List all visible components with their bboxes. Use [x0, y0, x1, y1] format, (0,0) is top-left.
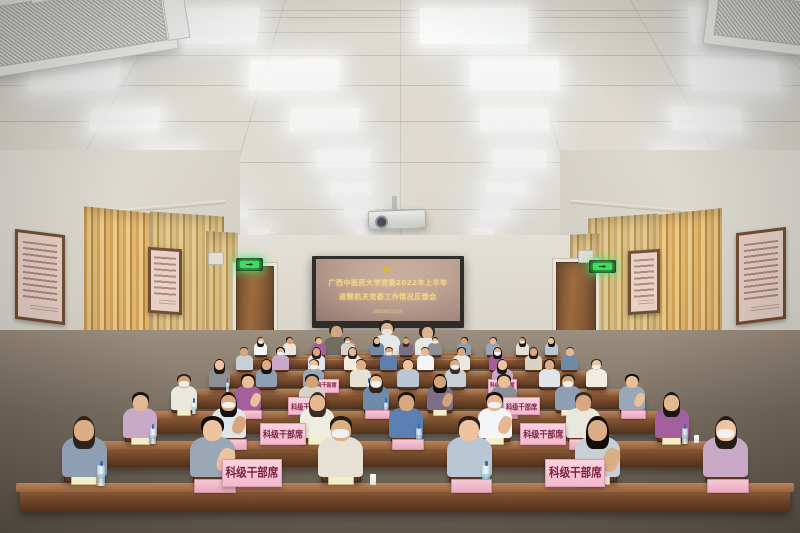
paper-cup — [694, 435, 699, 443]
wall-poster-right-1 — [736, 227, 786, 325]
poster-signature — [751, 304, 778, 313]
exit-sign-right — [589, 260, 616, 273]
seat-name-card-label: 科级干部席 — [263, 428, 303, 441]
ceiling-light — [420, 8, 528, 44]
face-mask — [179, 381, 189, 386]
head — [403, 360, 412, 370]
ceiling-light — [88, 107, 160, 131]
ceiling-light — [249, 60, 340, 90]
audience-person — [399, 337, 413, 358]
audience-person — [561, 347, 578, 373]
head — [459, 420, 479, 441]
face-mask — [451, 365, 459, 369]
ceiling-light — [688, 59, 780, 90]
document-folder — [392, 439, 424, 450]
poster-text-lines — [154, 256, 175, 298]
seat-name-card-label: 科级干部席 — [226, 464, 279, 481]
wall-poster-left-2 — [148, 247, 182, 315]
head — [399, 395, 414, 411]
ceiling-light — [492, 150, 547, 168]
face-mask — [277, 352, 284, 355]
head — [498, 376, 510, 388]
face-mask — [592, 365, 600, 369]
head — [664, 395, 679, 411]
ceiling-light — [480, 208, 511, 218]
paper-cup — [370, 474, 377, 485]
face-mask — [371, 381, 381, 386]
projector-lens — [375, 215, 388, 228]
head — [498, 360, 507, 370]
head — [356, 360, 365, 370]
document-folder — [707, 479, 749, 493]
audience-person — [397, 359, 418, 391]
audience-person — [236, 347, 253, 373]
head — [434, 376, 446, 388]
torso — [318, 437, 363, 477]
head — [133, 395, 148, 411]
audience-person — [427, 374, 454, 415]
face-mask — [717, 429, 734, 438]
document-folder — [365, 410, 390, 419]
face-mask — [386, 352, 393, 355]
seat-name-card-label: 科级干部席 — [523, 428, 563, 441]
torso — [586, 369, 607, 388]
ceiling-light — [330, 182, 371, 196]
document-folder — [451, 479, 493, 493]
slide-title-line-2: 巡察机关党委工作情况反馈会 — [316, 292, 460, 302]
head — [576, 395, 591, 411]
seat-name-card-label: 科级干部席 — [549, 464, 602, 481]
party-emblem-icon — [382, 264, 393, 275]
wall-speaker — [208, 252, 224, 265]
ceiling-light — [480, 108, 550, 131]
face-mask — [432, 341, 437, 344]
exit-sign-glow — [593, 263, 613, 269]
water-bottle — [150, 428, 156, 444]
ceiling-light — [289, 108, 359, 131]
face-mask — [332, 429, 349, 438]
face-mask — [310, 365, 318, 369]
audience-person — [545, 337, 559, 358]
head — [306, 376, 318, 388]
ceiling-light — [486, 182, 528, 196]
seat-name-card: 科级干部席 — [545, 459, 605, 487]
head — [458, 348, 466, 356]
audience-person — [586, 359, 607, 391]
audience-person — [619, 374, 646, 415]
head — [310, 395, 325, 411]
face-mask — [494, 352, 501, 355]
projection-screen: 广西中医药大学党委2022年上半年 巡察机关党委工作情况反馈会 2022年6月2… — [316, 259, 460, 321]
head — [287, 338, 293, 344]
ac-grille — [714, 0, 800, 49]
wall-poster-right-2 — [628, 249, 660, 315]
ceiling-light — [671, 108, 743, 132]
desk-surface — [16, 483, 794, 492]
audience-person — [703, 416, 748, 485]
audience-person — [318, 416, 363, 485]
water-bottle — [682, 428, 688, 444]
wall-poster-left-1 — [15, 229, 65, 325]
document-folder — [621, 410, 646, 419]
poster-signature — [638, 300, 654, 307]
exit-sign-glow — [240, 261, 260, 267]
face-mask — [563, 381, 573, 386]
water-bottle — [226, 382, 230, 392]
head — [203, 420, 223, 441]
head — [316, 338, 322, 344]
meeting-room-photo: 广西中医药大学党委2022年上半年 巡察机关党委工作情况反馈会 2022年6月2… — [0, 0, 800, 533]
water-bottle — [97, 465, 105, 486]
face-mask — [488, 402, 501, 409]
torso — [236, 355, 253, 370]
head — [403, 338, 409, 344]
audience-person — [417, 347, 434, 373]
head — [421, 348, 429, 356]
head — [566, 348, 574, 356]
poster-signature — [159, 300, 176, 307]
head — [374, 338, 380, 344]
head — [545, 360, 554, 370]
poster-signature — [30, 305, 57, 314]
torso — [380, 355, 397, 370]
audience-person — [380, 347, 397, 373]
ceiling-light — [316, 150, 371, 168]
slide-title-line-1: 广西中医药大学党委2022年上半年 — [316, 278, 460, 288]
torso — [561, 355, 578, 370]
head — [240, 348, 248, 356]
ceiling-light — [470, 60, 559, 90]
head — [74, 420, 94, 441]
head — [242, 376, 254, 388]
torso — [417, 355, 434, 370]
head — [588, 420, 608, 441]
water-bottle — [192, 402, 197, 414]
seat-name-card: 科级干部席 — [260, 423, 306, 445]
torso — [397, 369, 418, 388]
audience-person — [254, 337, 268, 358]
poster-text-lines — [23, 241, 56, 302]
seat-name-card: 科级干部席 — [222, 459, 282, 487]
seat-name-card: 科级干部席 — [520, 423, 566, 445]
head — [626, 376, 638, 388]
poster-text-lines — [634, 258, 654, 299]
poster-text-lines — [744, 240, 777, 303]
slide-date: 2022年6月22日 — [316, 309, 460, 315]
head — [215, 360, 224, 370]
exit-sign-left — [236, 258, 263, 271]
